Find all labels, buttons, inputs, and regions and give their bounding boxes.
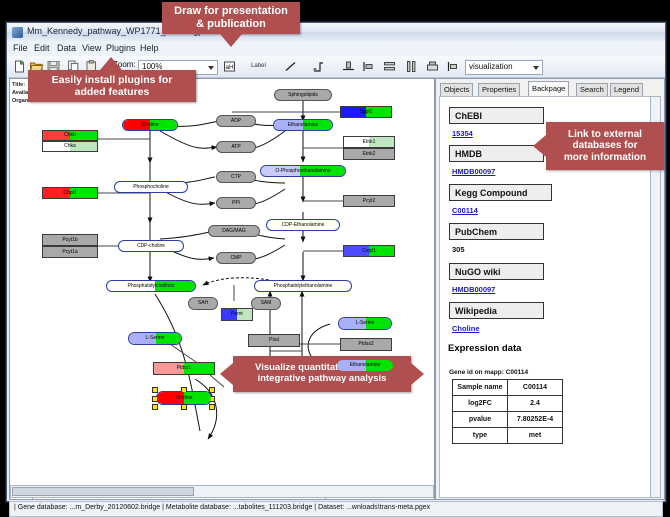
menu-item-data[interactable]: Data [57, 43, 76, 53]
node-etnk2[interactable]: Etnk2 [343, 148, 395, 160]
visualization-chevron-down-icon [533, 66, 539, 70]
distribute-horizontal-icon[interactable] [404, 59, 419, 74]
table-row: type met [453, 428, 563, 444]
table-row: Sample name C00114 [453, 380, 563, 396]
status-bar: | Gene database: ...m_Derby_20120602.bri… [9, 501, 663, 517]
node-sam[interactable]: SAM [251, 297, 281, 310]
section-kegg-title: Kegg Compound [449, 184, 552, 201]
align-left-icon[interactable] [361, 59, 376, 74]
section-pubchem-value: 305 [452, 245, 465, 254]
section-nugo-link[interactable]: HMDB00097 [452, 285, 495, 294]
cell-label: type [453, 428, 508, 444]
distribute-vertical-icon[interactable] [382, 59, 397, 74]
app-icon [12, 27, 23, 38]
arrow-shape-icon[interactable] [311, 59, 326, 74]
node-chkb[interactable]: Chkb [42, 130, 98, 141]
status-bar-text: | Gene database: ...m_Derby_20120602.bri… [14, 504, 430, 511]
tab-objects[interactable]: Objects [440, 83, 473, 97]
section-kegg-link[interactable]: C00114 [452, 206, 478, 215]
menu-item-help[interactable]: Help [140, 43, 159, 53]
node-pcyt1b[interactable]: Pcyt1b [42, 234, 98, 246]
title-bar: Mm_Kennedy_pathway_WP1771_45176.gpml [7, 23, 665, 42]
tab-legend[interactable]: Legend [610, 83, 643, 97]
callout-plugins: Easily install plugins for added feature… [28, 70, 196, 102]
table-row: pvalue 7.80252E-4 [453, 412, 563, 428]
callout-visualize-arrow-right-icon [411, 363, 424, 385]
callout-link-line1: Link to external [568, 129, 642, 141]
node-ctp[interactable]: CTP [216, 171, 256, 183]
menu-bar: File Edit Data View Plugins Help [7, 41, 665, 57]
node-sah[interactable]: SAH [188, 297, 218, 310]
section-wikipedia-title: Wikipedia [449, 302, 544, 319]
gene-id-line: Gene id on mapp: C00114 [449, 369, 528, 376]
chevron-down-icon [208, 66, 214, 70]
node-pcyt1a[interactable]: Pcyt1a [42, 246, 98, 258]
label-tool-button[interactable]: Label [251, 59, 266, 74]
cell-value: 2.4 [508, 396, 563, 412]
svg-text:aH: aH [225, 64, 234, 71]
node-pemt[interactable]: Pemt [221, 308, 253, 321]
callout-draw-line1: Draw for presentation [174, 5, 288, 18]
node-atp[interactable]: ATP [216, 141, 256, 153]
node-phosphatidylcholines[interactable]: Phosphatidylcholines [106, 280, 196, 292]
node-ppi[interactable]: PPi [216, 197, 256, 209]
visualization-combobox[interactable]: visualization [465, 60, 543, 75]
screenshot-root: Mm_Kennedy_pathway_WP1771_45176.gpml Fil… [0, 0, 670, 509]
node-chka[interactable]: Chka [42, 141, 98, 152]
callout-visualize-arrow-left-icon [220, 363, 233, 385]
section-chebi-title: ChEBI [449, 107, 544, 124]
expression-table: Sample name C00114 log2FC 2.4 pvalue 7.8… [452, 379, 563, 444]
node-chpt1[interactable]: Chpt1 [42, 187, 98, 199]
node-l-serine-right[interactable]: L-Serine [338, 317, 392, 330]
node-sgpl1[interactable]: Sgpl1 [340, 106, 392, 118]
tab-backpage[interactable]: Backpage [528, 81, 569, 97]
node-choline-selected[interactable]: Choline [156, 391, 212, 405]
align-top-icon[interactable] [341, 59, 356, 74]
node-l-serine-left[interactable]: L-Serine [128, 332, 182, 345]
common-width-icon[interactable] [425, 59, 440, 74]
callout-link: Link to external databases for more info… [546, 122, 664, 170]
node-pcyt2[interactable]: Pcyt2 [343, 195, 395, 207]
visualization-value: visualization [469, 62, 513, 71]
pathway-canvas[interactable]: Title: Availa Organ [9, 78, 435, 500]
canvas-info-title: Title: [12, 82, 25, 88]
node-cdp-choline[interactable]: CDP-choline [118, 240, 184, 252]
node-cdp-ethanolamine[interactable]: CDP-Ethanolamine [266, 219, 340, 231]
node-o-phosphoethanolamine[interactable]: O-Phosphoethanolamine [260, 165, 346, 177]
callout-draw-line2: & publication [196, 18, 266, 31]
table-row: log2FC 2.4 [453, 396, 563, 412]
canvas-hscroll-thumb[interactable] [12, 487, 194, 496]
callout-draw: Draw for presentation & publication [162, 2, 300, 34]
canvas-hscrollbar[interactable] [10, 485, 434, 498]
node-pisd[interactable]: Pisd [248, 334, 300, 347]
callout-link-line3: more information [564, 152, 646, 164]
node-dag-mag[interactable]: DAG/MAG [208, 225, 260, 237]
canvas-info-organism: Organ [12, 98, 28, 104]
node-ethanolamine[interactable]: Ethanolamine [273, 119, 333, 131]
node-cmp[interactable]: CMP [216, 252, 256, 264]
tab-properties[interactable]: Properties [478, 83, 520, 97]
callout-link-arrow-left-icon [533, 135, 546, 157]
node-phosphocholine[interactable]: Phosphocholine [114, 181, 188, 193]
callout-visualize-line2: integrative pathway analysis [258, 374, 387, 385]
line-icon[interactable] [283, 59, 298, 74]
node-ptdss2[interactable]: Ptdss2 [340, 338, 392, 351]
expression-data-heading: Expression data [448, 343, 521, 354]
menu-item-view[interactable]: View [82, 43, 101, 53]
cell-value: met [508, 428, 563, 444]
node-adp[interactable]: ADP [216, 115, 256, 127]
stack-icon[interactable] [445, 59, 460, 74]
menu-item-file[interactable]: File [13, 43, 28, 53]
menu-item-plugins[interactable]: Plugins [106, 43, 136, 53]
node-ptdsr1[interactable]: Ptdsr1 [153, 362, 215, 375]
node-choline-top[interactable]: Choline [122, 119, 178, 131]
section-hmdb-title: HMDB [449, 145, 544, 162]
section-hmdb-link[interactable]: HMDB00097 [452, 167, 495, 176]
text-label-icon[interactable]: aH [222, 59, 237, 74]
section-pubchem-title: PubChem [449, 223, 544, 240]
node-etnk1[interactable]: Etnk1 [343, 136, 395, 148]
section-nugo-title: NuGO wiki [449, 263, 544, 280]
callout-link-line2: databases for [572, 140, 637, 152]
callout-plugins-arrow-up-icon [100, 57, 122, 70]
node-phosphatidylethanolamine[interactable]: Phosphatidylethanolamine [254, 280, 352, 292]
menu-item-edit[interactable]: Edit [34, 43, 50, 53]
node-cept1[interactable]: Cept1 [343, 245, 395, 257]
node-ethanolamine-right[interactable]: Ethanolamine [336, 359, 394, 372]
cell-value: C00114 [508, 380, 563, 396]
section-wikipedia-link[interactable]: Choline [452, 324, 480, 333]
callout-plugins-line1: Easily install plugins for [52, 74, 173, 86]
callout-plugins-line2: added features [75, 86, 150, 98]
cell-value: 7.80252E-4 [508, 412, 563, 428]
node-sphingolipids[interactable]: Sphingolipids [274, 89, 332, 101]
cell-label: log2FC [453, 396, 508, 412]
cell-label: Sample name [453, 380, 508, 396]
callout-draw-arrow-down-icon [220, 34, 242, 47]
cell-label: pvalue [453, 412, 508, 428]
section-chebi-link[interactable]: 15354 [452, 129, 473, 138]
canvas-info-available: Availa [12, 90, 28, 96]
new-file-icon[interactable] [12, 59, 27, 74]
tab-search[interactable]: Search [576, 83, 608, 97]
